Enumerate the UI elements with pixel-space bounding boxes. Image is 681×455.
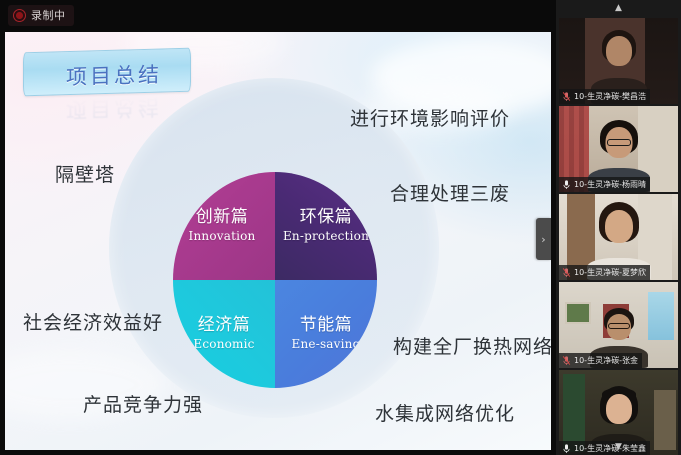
shared-slide[interactable]: 创新篇 Innovation 环保篇 En-protection 经济篇 Eco… [5, 32, 551, 450]
video-tile[interactable]: 10-生灵净碳-杨雨晴 [559, 106, 678, 192]
quadrant-label-en: Economic [193, 338, 254, 351]
quadrant-innovation: 创新篇 Innovation [173, 172, 275, 280]
mic-on-icon [562, 179, 571, 190]
video-tile[interactable]: 10-生灵净碳-夏梦欣 [559, 194, 678, 280]
recording-toolbar: 录制中 [0, 0, 556, 30]
four-quadrant-diagram: 创新篇 Innovation 环保篇 En-protection 经济篇 Eco… [173, 172, 377, 388]
quadrant-label-cn: 节能篇 [300, 316, 353, 335]
quadrant-economic: 经济篇 Economic [173, 280, 275, 388]
quadrant-ene-saving: 节能篇 Ene-saving [275, 280, 377, 388]
participant-video-panel: ▲ 10-生灵净碳-樊昌浩 [556, 0, 681, 455]
caption-social-economic-benefit: 社会经济效益好 [23, 308, 163, 335]
participant-name: 10-生灵净碳-张金 [574, 356, 638, 366]
caption-three-wastes-treatment: 合理处理三废 [390, 179, 510, 206]
participant-name: 10-生灵净碳-樊昌浩 [574, 92, 646, 102]
chevron-up-icon: ▲ [615, 3, 622, 13]
slide-title-reflection: 项目总结 [49, 92, 179, 126]
recording-badge[interactable]: 录制中 [8, 5, 74, 26]
participant-name-bar: 10-生灵净碳-樊昌浩 [559, 89, 650, 104]
quadrant-label-cn: 经济篇 [198, 316, 251, 335]
participant-name-bar: 10-生灵净碳-杨雨晴 [559, 177, 650, 192]
caption-product-competitiveness: 产品竞争力强 [83, 390, 203, 417]
video-tile[interactable]: 10-生灵净碳-张金 [559, 282, 678, 368]
scroll-down-button[interactable]: ▼ [556, 440, 681, 454]
panel-collapse-button[interactable]: › [536, 218, 551, 260]
quadrant-en-protection: 环保篇 En-protection [275, 172, 377, 280]
mic-muted-icon [562, 267, 571, 278]
video-tile[interactable]: 10-生灵净碳-樊昌浩 [559, 18, 678, 104]
caption-dividing-wall-column: 隔壁塔 [55, 160, 115, 187]
mic-muted-icon [562, 91, 571, 102]
mic-muted-icon [562, 355, 571, 366]
participant-name: 10-生灵净碳-杨雨晴 [574, 180, 646, 190]
quadrant-label-en: Innovation [189, 230, 260, 243]
participant-name-bar: 10-生灵净碳-张金 [559, 353, 642, 368]
slide-title-block: 项目总结 项目总结 [23, 50, 191, 112]
quadrant-label-cn: 环保篇 [300, 208, 353, 227]
scroll-up-button[interactable]: ▲ [556, 1, 681, 15]
quadrant-label-en: En-protection [283, 230, 369, 243]
chevron-right-icon: › [541, 233, 545, 246]
participant-name: 10-生灵净碳-夏梦欣 [574, 268, 646, 278]
record-dot-icon [13, 9, 26, 22]
slide-title: 项目总结 [49, 58, 179, 92]
quadrant-label-en: Ene-saving [292, 338, 361, 351]
caption-environmental-assessment: 进行环境影响评价 [350, 104, 510, 131]
recording-label: 录制中 [31, 9, 66, 22]
chevron-down-icon: ▼ [615, 442, 622, 452]
caption-water-network-optimization: 水集成网络优化 [375, 399, 515, 426]
meeting-screen-share-window: 录制中 创新篇 Innovation 环保篇 En-protection 经济篇… [0, 0, 681, 455]
caption-heat-exchange-network: 构建全厂换热网络 [393, 332, 551, 359]
participant-name-bar: 10-生灵净碳-夏梦欣 [559, 265, 650, 280]
quadrant-label-cn: 创新篇 [196, 208, 253, 227]
